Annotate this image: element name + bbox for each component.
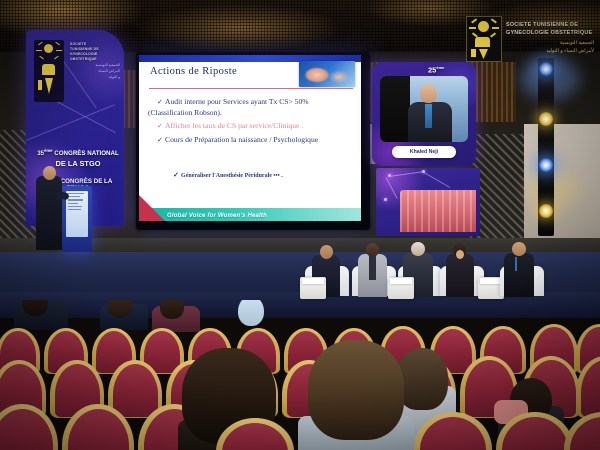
logo-arabic-2: لأمراض النساء و التوليد <box>506 47 594 56</box>
panelist-1-nameplate <box>302 278 324 284</box>
panelist-1-head <box>320 245 333 259</box>
panelist-3-nameplate <box>390 278 412 284</box>
audience-person-head <box>160 300 184 319</box>
logo-arabic-1: الجمعية التونسية <box>506 39 594 48</box>
stgo-logo: SOCIETE TUNISIENNE DE GYNECOLOGIE OBSTET… <box>466 16 594 60</box>
audience-person-head <box>238 300 264 326</box>
panelist-4-torso <box>446 254 474 297</box>
conference-hall-photo: SOCIETE TUNISIENNE DE GYNECOLOGIE OBSTET… <box>0 0 600 450</box>
logo-emblem <box>466 16 502 62</box>
panelist-4-face <box>456 250 464 259</box>
panelist-5-lanyard <box>515 257 517 271</box>
logo-line-1: SOCIETE TUNISIENNE DE <box>506 22 594 30</box>
audience-person-head <box>308 340 404 440</box>
panelist-5-torso <box>504 253 534 297</box>
chair-seat <box>113 364 158 417</box>
logo-text-block: SOCIETE TUNISIENNE DE GYNECOLOGIE OBSTET… <box>506 22 594 56</box>
logo-line-2: GYNECOLOGIE OBSTETRIQUE <box>506 30 594 38</box>
panelist-2-shirt <box>369 256 376 280</box>
panelist-5-head <box>512 242 526 256</box>
panelist-3-head <box>411 242 425 256</box>
panelist-2-head <box>366 243 379 257</box>
panelist-4-nameplate <box>480 278 502 284</box>
audience-seating <box>0 300 600 450</box>
